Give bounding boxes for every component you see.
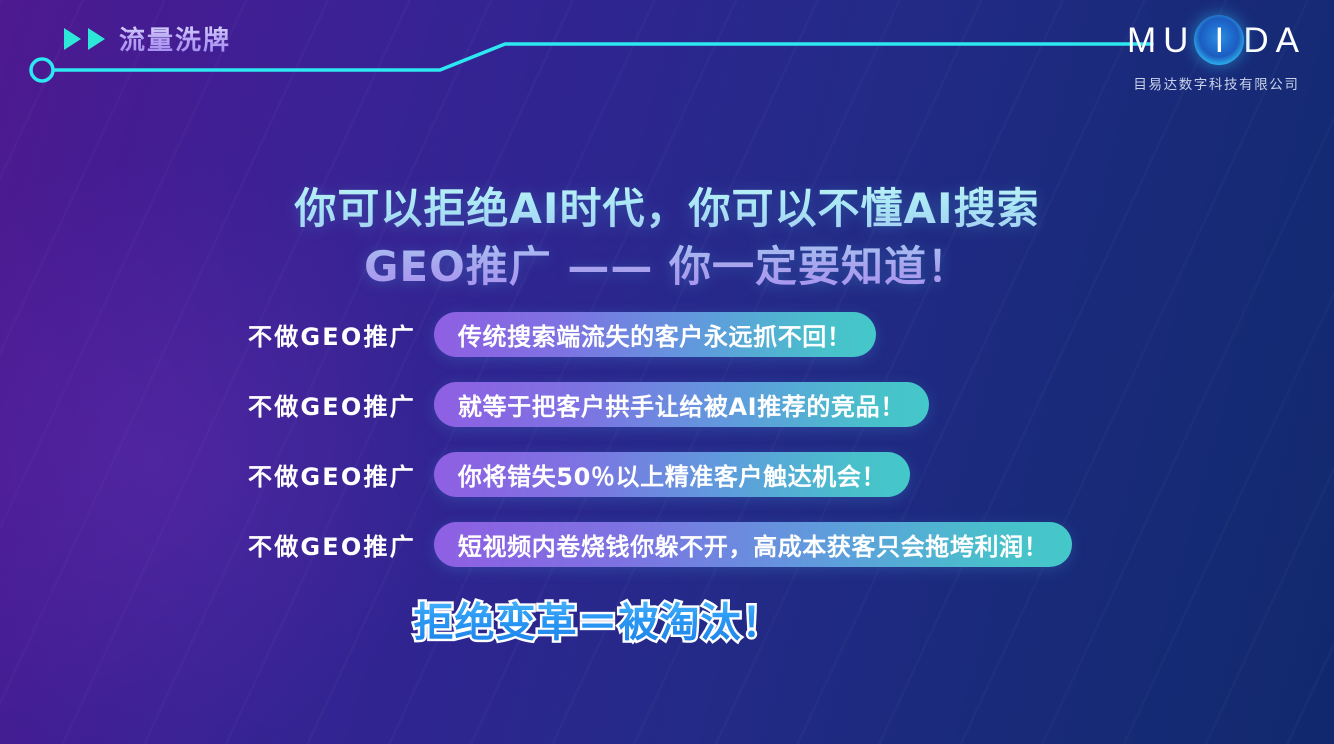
list-item: 不做GEO推广 就等于把客户拱手让给被AI推荐的竞品！	[248, 382, 1072, 427]
row-pill: 短视频内卷烧钱你躲不开，高成本获客只会拖垮利润！	[434, 522, 1072, 567]
triangle-icon-2	[88, 28, 105, 50]
row-label: 不做GEO推广	[248, 317, 416, 352]
row-label: 不做GEO推广	[248, 387, 416, 422]
logo-company-name: 目易达数字科技有限公司	[1133, 73, 1299, 93]
headline-line-1: 你可以拒绝AI时代，你可以不懂AI搜索	[0, 180, 1334, 238]
list-item: 不做GEO推广 短视频内卷烧钱你躲不开，高成本获客只会拖垮利润！	[248, 522, 1072, 567]
row-label: 不做GEO推广	[248, 527, 416, 562]
row-pill: 就等于把客户拱手让给被AI推荐的竞品！	[434, 382, 929, 427]
list-item: 不做GEO推广 传统搜索端流失的客户永远抓不回！	[248, 312, 1072, 357]
logo-letters-before: MU	[1127, 23, 1195, 58]
main-headline: 你可以拒绝AI时代，你可以不懂AI搜索 GEO推广 —— 你一定要知道！	[0, 180, 1334, 296]
double-triangle-icon	[64, 28, 105, 50]
triangle-icon-1	[64, 28, 81, 50]
logo-lettermark: MU I DA	[1127, 14, 1306, 66]
row-label: 不做GEO推广	[248, 457, 416, 492]
headline-line-2: GEO推广 —— 你一定要知道！	[0, 238, 1334, 296]
header-brand-group: 流量洗牌	[64, 20, 231, 57]
logo-letter-center: I	[1215, 23, 1225, 58]
logo-letters-after: DA	[1243, 23, 1306, 58]
page-header: 流量洗牌 MU I DA 目易达数字科技有限公司	[0, 0, 1334, 100]
header-title: 流量洗牌	[119, 20, 231, 57]
list-item: 不做GEO推广 你将错失50％以上精准客户触达机会！	[248, 452, 1072, 497]
conclusion-block: 拒绝变革＝被淘汰！ 拒绝变革＝被淘汰！	[248, 590, 948, 648]
row-pill: 你将错失50％以上精准客户触达机会！	[434, 452, 910, 497]
row-pill: 传统搜索端流失的客户永远抓不回！	[434, 312, 876, 357]
circle-node-icon	[31, 59, 53, 81]
conclusion-text-stroke: 拒绝变革＝被淘汰！	[414, 590, 783, 648]
company-logo: MU I DA 目易达数字科技有限公司	[1127, 14, 1306, 93]
benefit-rows: 不做GEO推广 传统搜索端流失的客户永远抓不回！ 不做GEO推广 就等于把客户拱…	[248, 312, 1072, 567]
logo-sphere-icon: I	[1193, 14, 1245, 66]
